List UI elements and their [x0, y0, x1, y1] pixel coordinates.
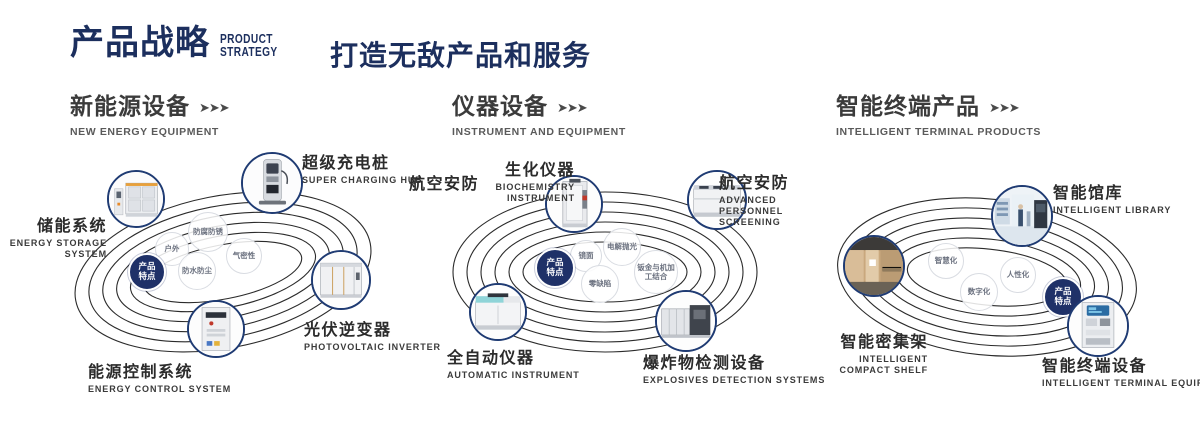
label-en: EXPLOSIVES DETECTION SYSTEMS: [643, 375, 825, 386]
label-cn: 光伏逆变器: [304, 322, 441, 339]
label-photovoltaic-inverter: 光伏逆变器 PHOTOVOLTAIC INVERTER: [304, 322, 441, 353]
compact-shelf-image: [845, 237, 903, 295]
node-automatic-instrument[interactable]: [469, 283, 527, 341]
section-title-en: NEW ENERGY EQUIPMENT: [70, 126, 229, 138]
explosives-detection-image: [657, 292, 715, 350]
section-title-cn: 仪器设备: [452, 96, 548, 119]
label-super-charging-hub: 超级充电桩 SUPER CHARGING HUB: [302, 155, 423, 186]
section-header-instrument: 仪器设备 ➤➤➤ INSTRUMENT AND EQUIPMENT: [452, 96, 626, 138]
label-cn: 智能密集架: [818, 334, 928, 351]
feature-bubble: 智慧化: [928, 243, 964, 279]
feature-bubble: 防水防尘: [178, 252, 216, 290]
label-en: BIOCHEMISTRY INSTRUMENT: [450, 182, 575, 205]
label-biochemistry-instrument: 生化仪器 BIOCHEMISTRY INSTRUMENT: [450, 162, 575, 204]
inverter-cabinet-image: [313, 252, 369, 308]
core-bubble-product-features: 产品 特点: [535, 248, 575, 288]
label-intelligent-library: 智能馆库 INTELLIGENT LIBRARY: [1053, 185, 1171, 216]
label-en: ADVANCED PERSONNEL SCREENING: [719, 195, 819, 229]
core-bubble-line1: 产品: [546, 258, 563, 268]
core-bubble-product-features: 产品 特点: [128, 253, 166, 291]
section-title-cn: 新能源设备: [70, 96, 190, 119]
terminal-kiosk-image: [1069, 297, 1127, 355]
node-energy-storage-system[interactable]: [107, 170, 165, 228]
label-advanced-personnel-screening: 航空安防 ADVANCED PERSONNEL SCREENING: [719, 175, 819, 229]
feature-bubble: 电解抛光: [603, 228, 641, 266]
label-cn: 全自动仪器: [447, 350, 580, 367]
label-cn: 能源控制系统: [88, 364, 231, 381]
feature-bubble: 零缺陷: [581, 265, 619, 303]
node-energy-control-system[interactable]: [187, 300, 245, 358]
charging-pile-image: [243, 154, 301, 212]
label-cn: 航空安防: [719, 175, 819, 192]
label-cn: 智能终端设备: [1042, 358, 1200, 375]
feature-bubble: 人性化: [1000, 257, 1036, 293]
page-subtitle: 打造无敌产品和服务: [330, 34, 591, 74]
label-en: INTELLIGENT TERMINAL EQUIPMENT: [1042, 378, 1200, 389]
intelligent-library-image: [993, 187, 1051, 245]
section-title-en: INTELLIGENT TERMINAL PRODUCTS: [836, 126, 1041, 138]
page-title-cn: 产品战略: [70, 26, 210, 60]
section-title-en: INSTRUMENT AND EQUIPMENT: [452, 126, 626, 138]
section-header-new-energy: 新能源设备 ➤➤➤ NEW ENERGY EQUIPMENT: [70, 96, 229, 138]
feature-bubble: 气密性: [226, 238, 262, 274]
label-energy-control-system: 能源控制系统 ENERGY CONTROL SYSTEM: [88, 364, 231, 395]
label-cn: 储能系统: [0, 218, 107, 235]
node-intelligent-terminal-equipment[interactable]: [1067, 295, 1129, 357]
label-automatic-instrument: 全自动仪器 AUTOMATIC INSTRUMENT: [447, 350, 580, 381]
page-title: 产品战略 PRODUCT STRATEGY: [70, 26, 294, 60]
node-photovoltaic-inverter[interactable]: [311, 250, 371, 310]
node-intelligent-library[interactable]: [991, 185, 1053, 247]
section-title-cn: 智能终端产品: [836, 96, 980, 119]
diagram-new-energy: 户外 防腐防锈 防水防尘 气密性 产品 特点: [55, 160, 405, 390]
node-super-charging-hub[interactable]: [241, 152, 303, 214]
feature-bubble: 防腐防锈: [188, 212, 228, 252]
page-title-en-line2: STRATEGY: [220, 45, 278, 58]
chevron-right-icon: ➤➤➤: [199, 101, 229, 114]
label-energy-storage-system: 储能系统 ENERGY STORAGE SYSTEM: [0, 218, 107, 260]
core-bubble-line2: 特点: [138, 272, 155, 282]
node-explosives-detection-systems[interactable]: [655, 290, 717, 352]
core-bubble-line1: 产品: [1054, 287, 1071, 297]
label-cn: 爆炸物检测设备: [643, 355, 825, 372]
feature-bubble: 钣金与机加工结合: [634, 250, 678, 294]
label-en: ENERGY STORAGE SYSTEM: [0, 238, 107, 261]
feature-bubble: 数字化: [960, 273, 998, 311]
label-en: SUPER CHARGING HUB: [302, 175, 423, 186]
chevron-right-icon: ➤➤➤: [557, 101, 587, 114]
label-en: INTELLIGENT LIBRARY: [1053, 205, 1171, 216]
label-en: PHOTOVOLTAIC INVERTER: [304, 342, 441, 353]
label-cn: 生化仪器: [450, 162, 575, 179]
label-cn: 智能馆库: [1053, 185, 1171, 202]
label-cn: 超级充电桩: [302, 155, 423, 172]
label-intelligent-compact-shelf: 智能密集架 INTELLIGENT COMPACT SHELF: [818, 334, 928, 376]
label-en: ENERGY CONTROL SYSTEM: [88, 384, 231, 395]
node-intelligent-compact-shelf[interactable]: [843, 235, 905, 297]
automatic-instrument-image: [471, 285, 525, 339]
label-explosives-detection-systems: 爆炸物检测设备 EXPLOSIVES DETECTION SYSTEMS: [643, 355, 825, 386]
control-cabinet-image: [189, 302, 243, 356]
energy-storage-cabinet-image: [109, 172, 163, 226]
chevron-right-icon: ➤➤➤: [989, 101, 1019, 114]
core-bubble-line1: 产品: [138, 262, 155, 272]
section-header-intelligent: 智能终端产品 ➤➤➤ INTELLIGENT TERMINAL PRODUCTS: [836, 96, 1041, 138]
label-intelligent-terminal-equipment: 智能终端设备 INTELLIGENT TERMINAL EQUIPMENT: [1042, 358, 1200, 389]
core-bubble-line2: 特点: [546, 268, 563, 278]
slide-canvas: 产品战略 PRODUCT STRATEGY 打造无敌产品和服务 新能源设备 ➤➤…: [0, 0, 1200, 422]
label-en: INTELLIGENT COMPACT SHELF: [818, 354, 928, 377]
page-title-en: PRODUCT STRATEGY: [220, 32, 278, 58]
label-en: AUTOMATIC INSTRUMENT: [447, 370, 580, 381]
